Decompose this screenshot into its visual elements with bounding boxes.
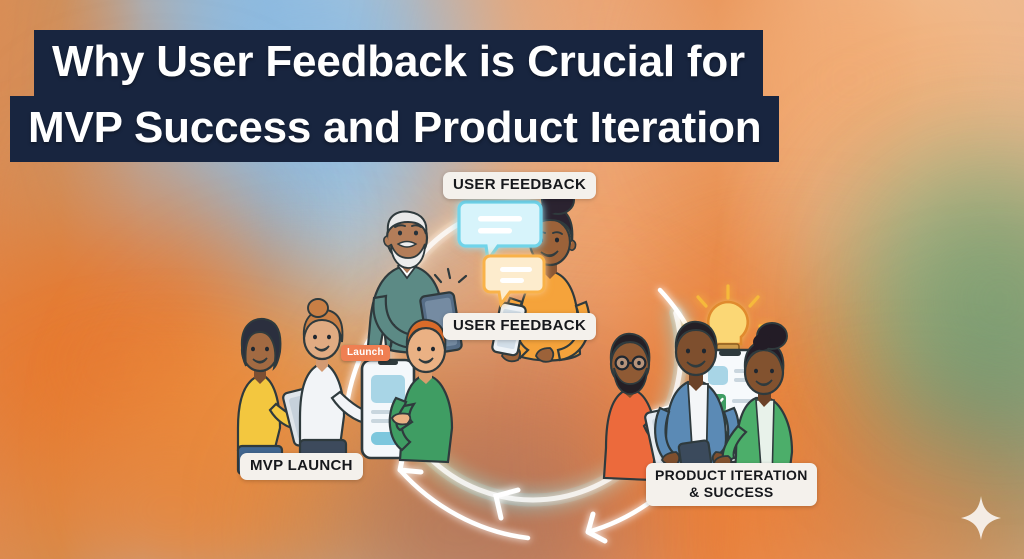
- launch-tag: Launch: [341, 345, 390, 361]
- tap-spark-icon: [435, 269, 466, 282]
- label-product-iteration-line2: & SUCCESS: [689, 484, 773, 500]
- label-product-iteration-success: PRODUCT ITERATION & SUCCESS: [646, 463, 817, 506]
- banner-canvas: USER FEEDBACK USER FEEDBACK MVP LAUNCH P…: [0, 0, 1024, 559]
- page-title-line1: Why User Feedback is Crucial for: [34, 30, 763, 96]
- page-title: Why User Feedback is Crucial for MVP Suc…: [0, 30, 1024, 162]
- scene-mvp-launch: [238, 299, 452, 474]
- sparkle-icon: [960, 495, 1002, 541]
- label-user-feedback-middle: USER FEEDBACK: [443, 313, 596, 340]
- label-mvp-launch: MVP LAUNCH: [240, 453, 363, 480]
- page-title-line2: MVP Success and Product Iteration: [10, 96, 779, 162]
- scene-product-iteration: [604, 286, 792, 484]
- speech-bubble-cyan: [459, 202, 541, 260]
- label-product-iteration-line1: PRODUCT ITERATION: [655, 467, 808, 483]
- label-user-feedback-top: USER FEEDBACK: [443, 172, 596, 199]
